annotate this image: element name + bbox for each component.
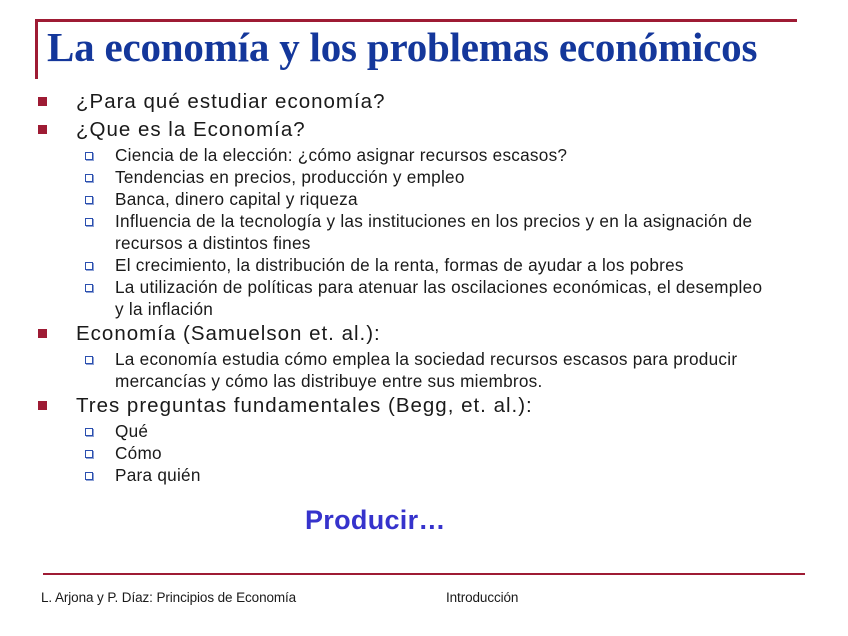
outline-item-label: La economía estudia cómo emplea la socie… <box>115 348 770 392</box>
square-bullet-icon <box>38 401 47 410</box>
outline-item-label: Para quién <box>115 464 201 486</box>
hollow-square-bullet-icon <box>85 472 93 480</box>
outline-item-level2: La economía estudia cómo emplea la socie… <box>85 348 818 392</box>
hollow-square-bullet-icon <box>85 356 93 364</box>
outline-item-label: El crecimiento, la distribución de la re… <box>115 254 684 276</box>
outline-item-level2: La utilización de políticas para atenuar… <box>85 276 818 320</box>
hollow-square-bullet-icon <box>85 428 93 436</box>
title-top-rule <box>35 19 797 22</box>
outline-item-level1: Economía (Samuelson et. al.): <box>38 320 818 347</box>
outline-item-level2: Influencia de la tecnología y las instit… <box>85 210 818 254</box>
outline-item-label: Qué <box>115 420 148 442</box>
outline-item-label: ¿Que es la Economía? <box>76 116 306 143</box>
outline-item-label: Ciencia de la elección: ¿cómo asignar re… <box>115 144 567 166</box>
outline-item-level1: Tres preguntas fundamentales (Begg, et. … <box>38 392 818 419</box>
square-bullet-icon <box>38 329 47 338</box>
hollow-square-bullet-icon <box>85 450 93 458</box>
title-left-rule <box>35 19 38 79</box>
outline-item-label: Banca, dinero capital y riqueza <box>115 188 358 210</box>
outline-item-level2: Tendencias en precios, producción y empl… <box>85 166 818 188</box>
outline-item-level2: El crecimiento, la distribución de la re… <box>85 254 818 276</box>
hollow-square-bullet-icon <box>85 262 93 270</box>
outline-item-level2: Banca, dinero capital y riqueza <box>85 188 818 210</box>
hollow-square-bullet-icon <box>85 152 93 160</box>
outline-item-level1: ¿Que es la Economía? <box>38 116 818 143</box>
outline-item-label: Economía (Samuelson et. al.): <box>76 320 381 347</box>
outline-item-level2: Para quién <box>85 464 818 486</box>
footer-section-text: Introducción <box>446 590 518 605</box>
outline-item-label: Tres preguntas fundamentales (Begg, et. … <box>76 392 533 419</box>
hollow-square-bullet-icon <box>85 174 93 182</box>
outline-item-label: Tendencias en precios, producción y empl… <box>115 166 465 188</box>
square-bullet-icon <box>38 97 47 106</box>
outline-item-label: Cómo <box>115 442 162 464</box>
hollow-square-bullet-icon <box>85 218 93 226</box>
outline-item-level1: ¿Para qué estudiar economía? <box>38 88 818 115</box>
square-bullet-icon <box>38 125 47 134</box>
outline-list: ¿Para qué estudiar economía?¿Que es la E… <box>38 88 818 486</box>
outline-item-label: ¿Para qué estudiar economía? <box>76 88 385 115</box>
footer-rule <box>43 573 805 575</box>
page-title: La economía y los problemas económicos <box>47 24 837 70</box>
outline-item-level2: Qué <box>85 420 818 442</box>
footer-left-text: L. Arjona y P. Díaz: Principios de Econo… <box>41 590 296 605</box>
outline-item-level2: Ciencia de la elección: ¿cómo asignar re… <box>85 144 818 166</box>
outline-item-label: Influencia de la tecnología y las instit… <box>115 210 770 254</box>
outline-item-level2: Cómo <box>85 442 818 464</box>
presentation-slide: La economía y los problemas económicos ¿… <box>0 0 848 636</box>
producir-callout: Producir… <box>305 505 446 536</box>
hollow-square-bullet-icon <box>85 284 93 292</box>
hollow-square-bullet-icon <box>85 196 93 204</box>
outline-item-label: La utilización de políticas para atenuar… <box>115 276 770 320</box>
